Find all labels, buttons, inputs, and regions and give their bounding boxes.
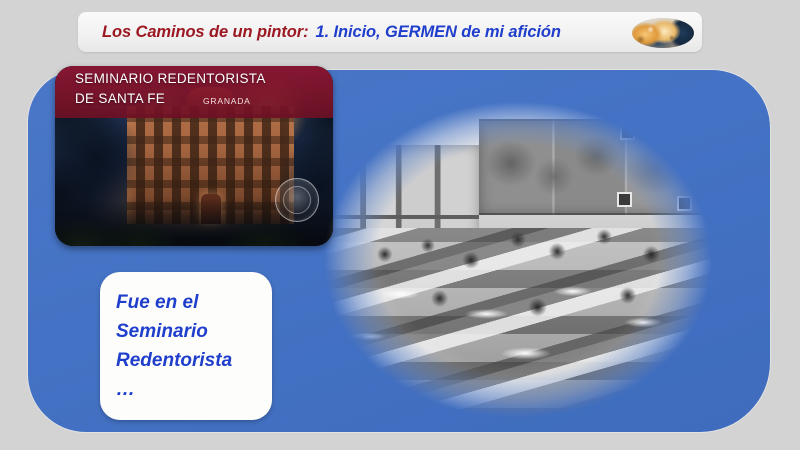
slide-title: Los Caminos de un pintor:1. Inicio, GERM… <box>102 12 561 52</box>
vintage-classroom-photo <box>322 100 714 420</box>
seminary-banner-line1: SEMINARIO REDENTORISTA <box>75 71 266 86</box>
callout-text: Fue en el Seminario Redentorista … <box>116 288 262 404</box>
slide-title-topic: 1. Inicio, GERMEN de mi afición <box>316 23 561 41</box>
seminary-banner-line2: DE SANTA FE <box>75 91 165 106</box>
callout-box: Fue en el Seminario Redentorista … <box>100 272 272 420</box>
seminary-banner-city: GRANADA <box>203 96 251 106</box>
painting-thumbnail-icon <box>632 18 694 48</box>
seminary-photo-card: SEMINARIO REDENTORISTA DE SANTA FE GRANA… <box>55 66 333 246</box>
slide-title-series: Los Caminos de un pintor: <box>102 23 309 41</box>
slide-title-bar: Los Caminos de un pintor:1. Inicio, GERM… <box>78 12 702 52</box>
slide-canvas: Los Caminos de un pintor:1. Inicio, GERM… <box>0 0 800 450</box>
painting-thumbnail-detail <box>632 18 694 48</box>
seminary-emblem-icon <box>275 178 319 222</box>
classroom-oval-vignette <box>322 100 714 420</box>
